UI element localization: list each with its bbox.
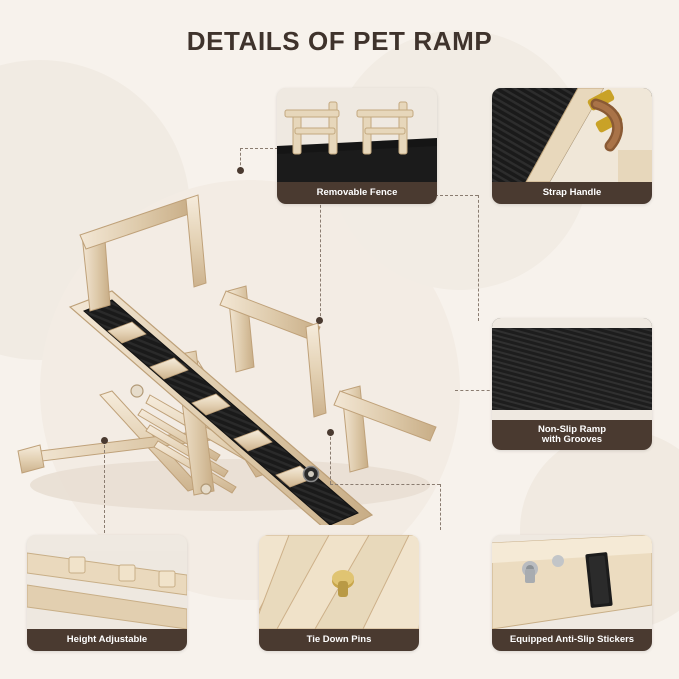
callout-photo-removable-fence (277, 88, 437, 182)
connector-dot (237, 167, 244, 174)
connector-dot (316, 317, 323, 324)
connector-line (104, 440, 105, 538)
callout-height-adjustable: Height Adjustable (27, 535, 187, 651)
callout-photo-height-adjustable (27, 535, 187, 629)
callout-photo-anti-slip-stickers (492, 535, 652, 629)
strap-handle-photo (492, 88, 652, 182)
callout-label-anti-slip-stickers: Equipped Anti-Slip Stickers (492, 629, 652, 651)
connector-line (330, 432, 331, 484)
page-root: DETAILS OF PET RAMP (0, 0, 679, 679)
callout-photo-strap-handle (492, 88, 652, 182)
connector-dot (101, 437, 108, 444)
tie-down-pins-photo (259, 535, 419, 629)
callout-label-non-slip-ramp: Non-Slip Ramp with Grooves (492, 420, 652, 450)
page-title: DETAILS OF PET RAMP (0, 26, 679, 57)
callout-label-tie-down-pins: Tie Down Pins (259, 629, 419, 651)
connector-line (478, 195, 479, 321)
anti-slip-stickers-photo (492, 535, 652, 629)
callout-non-slip-ramp: Non-Slip Ramp with Grooves (492, 318, 652, 450)
connector-line (320, 195, 321, 321)
callout-removable-fence: Removable Fence (277, 88, 437, 204)
height-adjustable-photo (27, 535, 187, 629)
connector-line (440, 484, 441, 530)
callout-label-strap-handle: Strap Handle (492, 182, 652, 204)
callout-anti-slip-stickers: Equipped Anti-Slip Stickers (492, 535, 652, 651)
callout-label-height-adjustable: Height Adjustable (27, 629, 187, 651)
connector-line (240, 148, 278, 149)
callout-tie-down-pins: Tie Down Pins (259, 535, 419, 651)
callout-label-line2: with Grooves (542, 435, 602, 445)
non-slip-ramp-photo (492, 318, 652, 420)
removable-fence-photo (277, 88, 437, 182)
callout-label-removable-fence: Removable Fence (277, 182, 437, 204)
connector-line (330, 484, 440, 485)
callout-photo-non-slip-ramp (492, 318, 652, 420)
callout-photo-tie-down-pins (259, 535, 419, 629)
connector-dot (327, 429, 334, 436)
connector-line (455, 390, 495, 391)
callout-strap-handle: Strap Handle (492, 88, 652, 204)
